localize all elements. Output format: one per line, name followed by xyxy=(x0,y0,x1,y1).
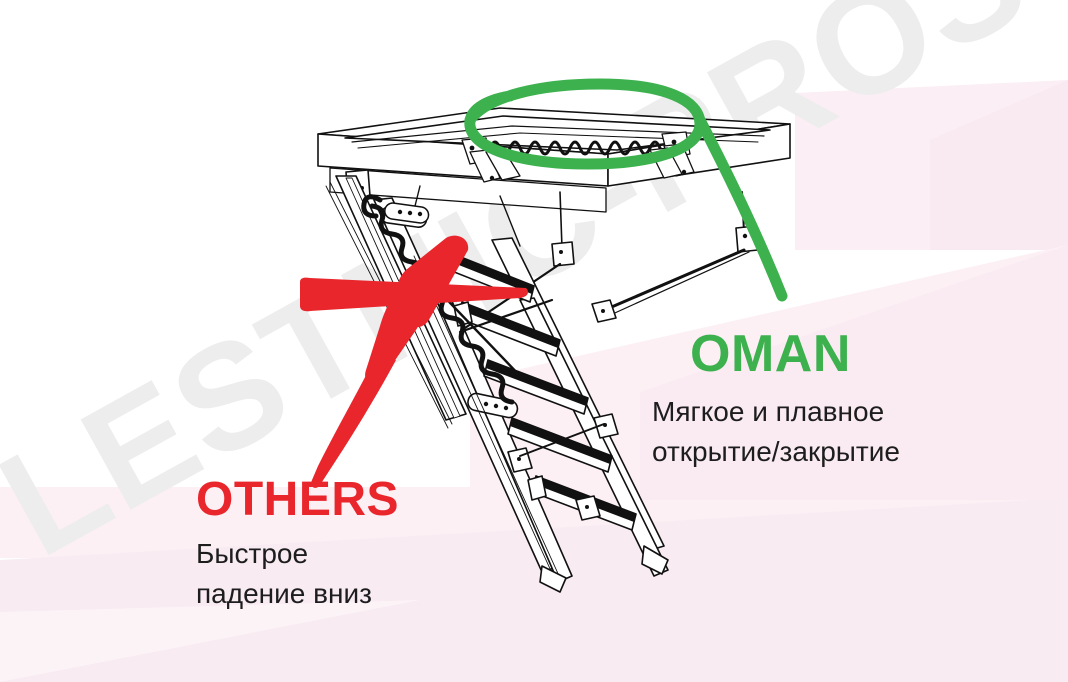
promo-illustration-canvas: LESTNIC-PROSTO.RU xyxy=(0,0,1068,682)
oman-description: Мягкое и плавное открытие/закрытие xyxy=(652,392,900,472)
oman-title: OMAN xyxy=(690,328,851,380)
others-title: OTHERS xyxy=(196,476,399,524)
red-arrow-marker-layer xyxy=(0,0,1068,682)
red-arrow-pointer xyxy=(300,236,528,488)
others-description: Быстрое падение вниз xyxy=(196,534,372,614)
